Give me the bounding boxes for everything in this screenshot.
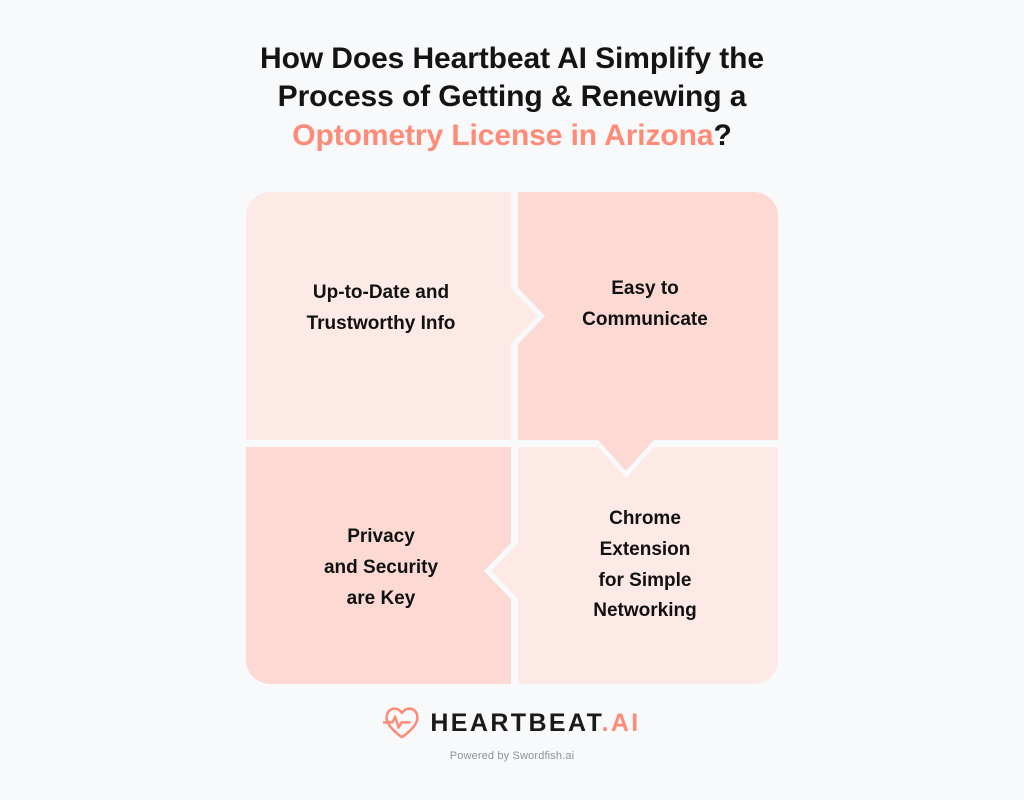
- logo-row: HEARTBEAT.AI: [383, 706, 640, 740]
- title-question-mark: ?: [713, 119, 731, 152]
- brand-name: HEARTBEAT: [430, 709, 601, 737]
- title-line-3: Optometry License in Arizona?: [0, 117, 1024, 155]
- page-title: How Does Heartbeat AI Simplify the Proce…: [0, 40, 1024, 155]
- cell-label-privacy-security: Privacy and Security are Key: [252, 522, 510, 614]
- heart-pulse-icon: [383, 706, 421, 740]
- quadrant-flow-diagram: Up-to-Date and Trustworthy Info Easy to …: [246, 192, 778, 684]
- cell-label-up-to-date: Up-to-Date and Trustworthy Info: [252, 278, 510, 340]
- title-line-1: How Does Heartbeat AI Simplify the: [0, 40, 1024, 78]
- brand-logo: HEARTBEAT.AI Powered by Swordfish.ai: [0, 706, 1024, 762]
- title-line-2: Process of Getting & Renewing a: [0, 78, 1024, 116]
- brand-suffix: .AI: [601, 709, 640, 737]
- brand-wordmark: HEARTBEAT.AI: [430, 711, 640, 736]
- cell-label-chrome-extension: Chrome Extension for Simple Networking: [518, 504, 772, 627]
- brand-tagline: Powered by Swordfish.ai: [0, 750, 1024, 762]
- title-accent-phrase: Optometry License in Arizona: [292, 119, 713, 152]
- cell-label-easy-to-communicate: Easy to Communicate: [518, 274, 772, 336]
